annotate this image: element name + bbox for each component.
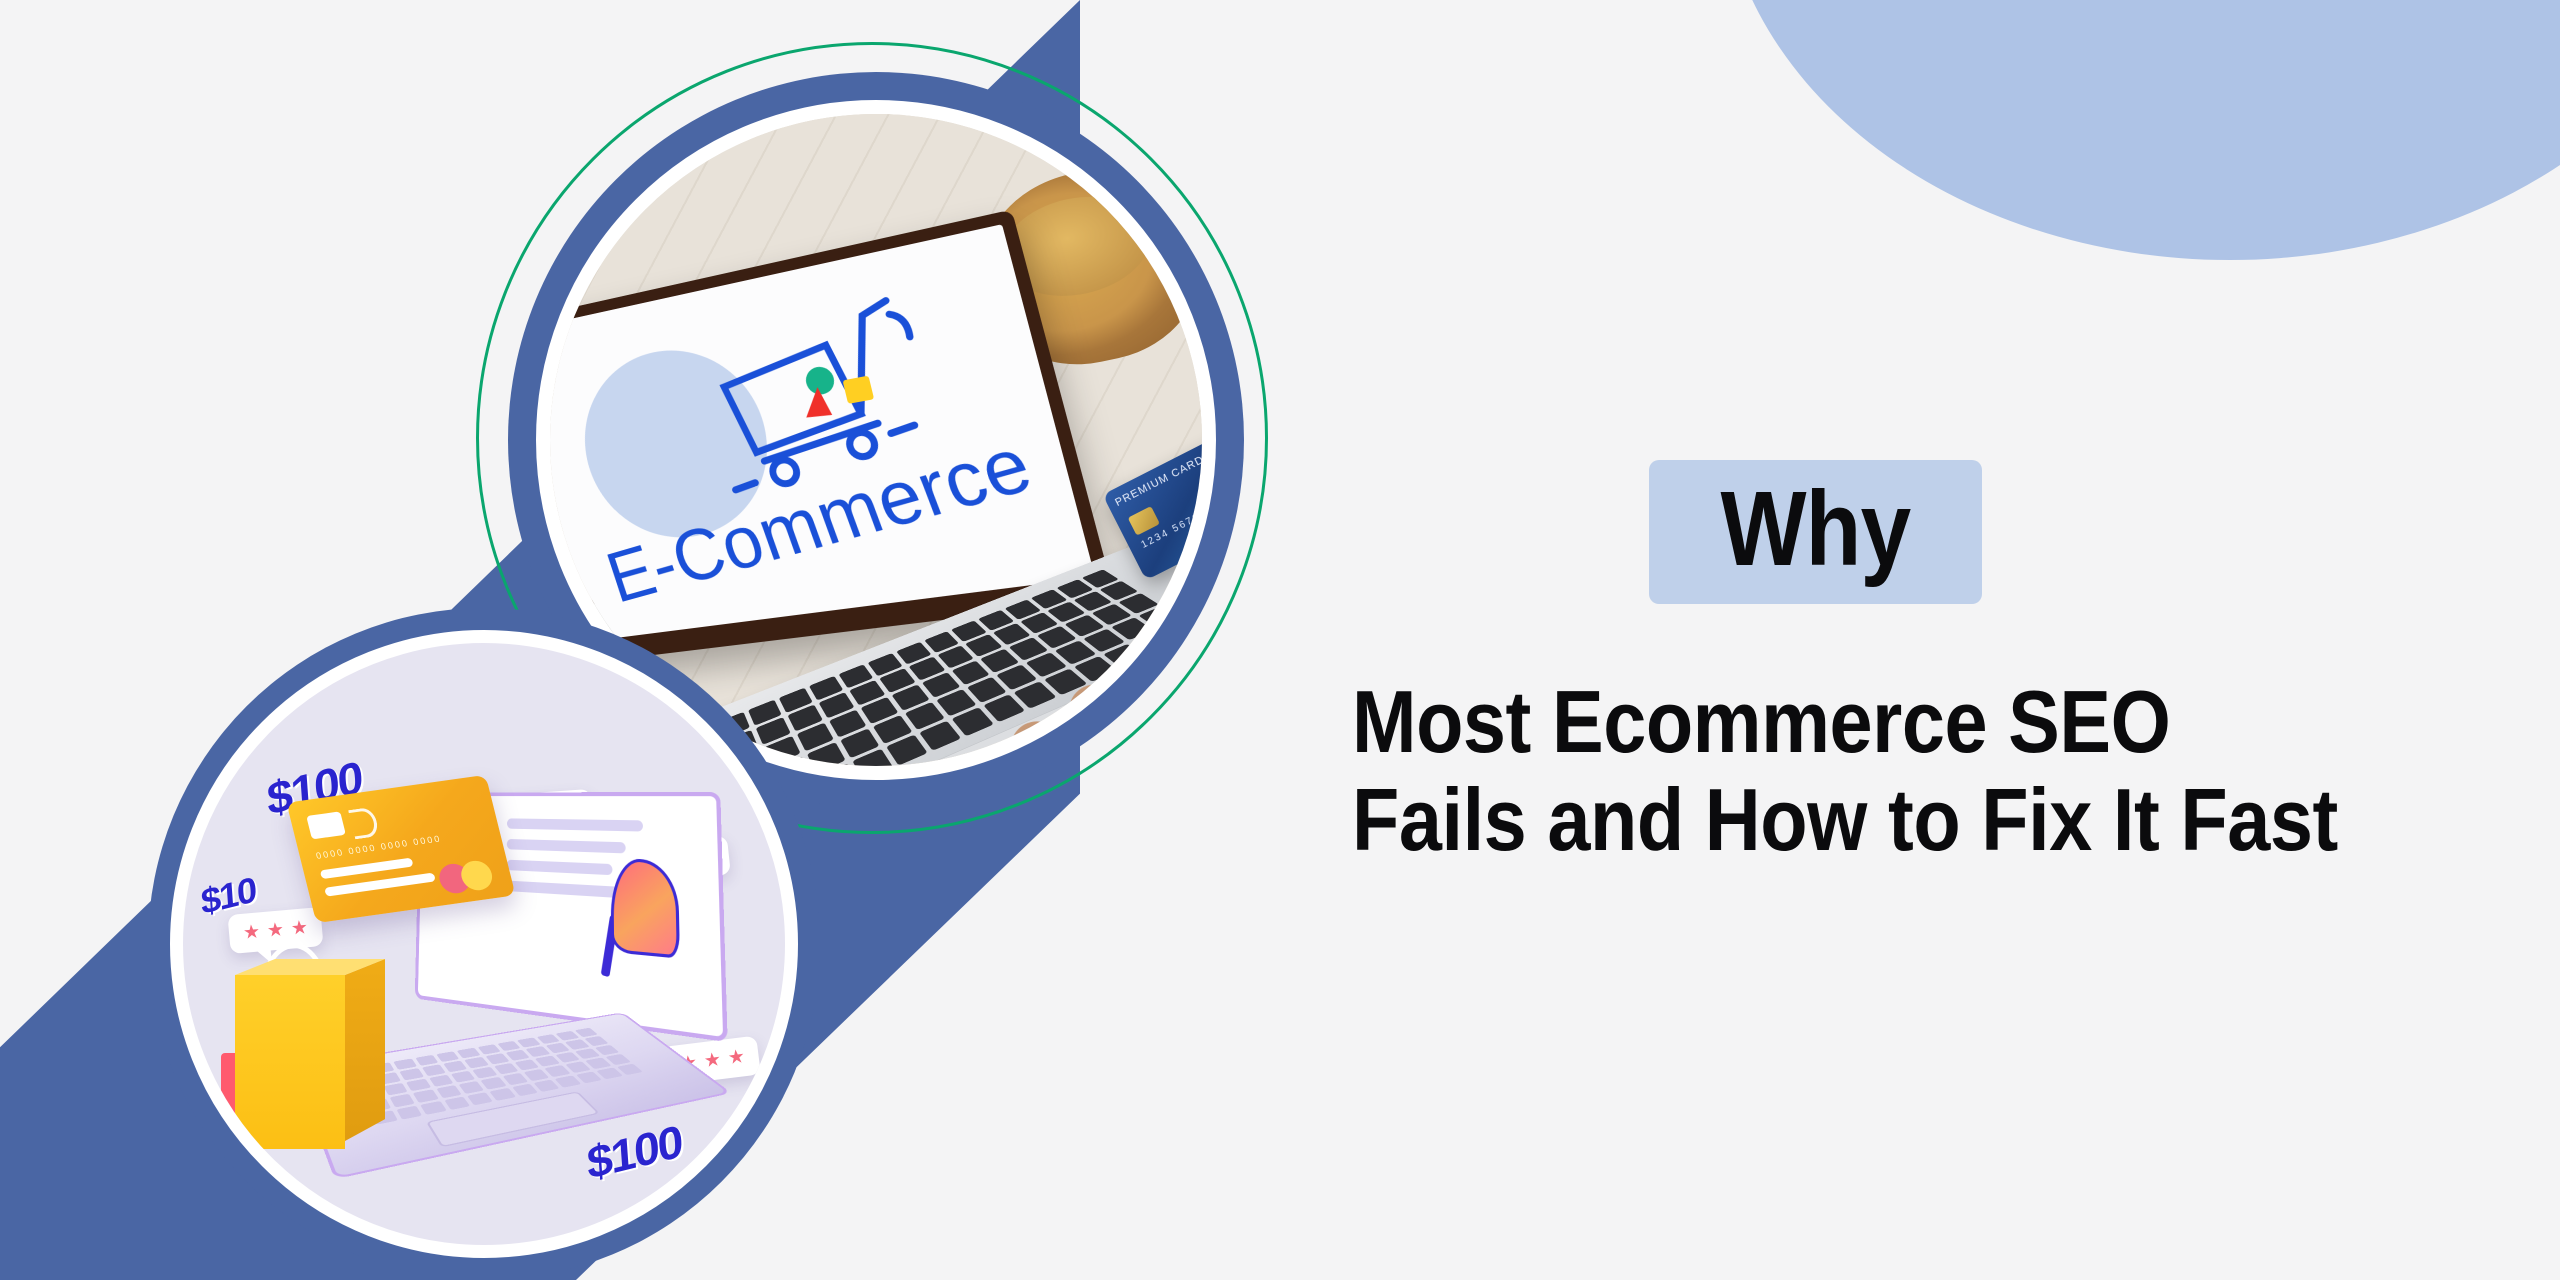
rating-bubble-1: ★ ★ ★ <box>227 907 323 954</box>
high-heel-shoe-icon <box>603 858 698 989</box>
headline-line-2: Fails and How to Fix It Fast <box>1352 774 2390 866</box>
contactless-icon <box>348 807 380 840</box>
credit-card-label: PREMIUM CARD <box>1113 454 1206 509</box>
illustration-circle-shopping: $100 $100 ★ ★ ★ ★ ★ ★ ★ ★ ★ ★ ★ ★ ★ <box>148 608 820 1280</box>
gold-card-number: 0000 0000 0000 0000 <box>315 833 442 860</box>
headline-line-1: Most Ecommerce SEO <box>1352 676 2390 768</box>
text-line <box>507 818 643 831</box>
top-right-blob-shape <box>1720 0 2560 260</box>
text-line <box>507 860 613 876</box>
illustration-circle-frame: $100 $100 ★ ★ ★ ★ ★ ★ ★ ★ ★ ★ ★ ★ ★ <box>170 630 798 1258</box>
promo-banner: E-Commerce <box>0 0 2560 1280</box>
card-detail-bar <box>320 858 414 880</box>
text-line <box>507 839 626 853</box>
text-column: Why Most Ecommerce SEO Fails and How to … <box>1352 460 2532 865</box>
star-icon: ★ <box>290 918 309 938</box>
headline: Most Ecommerce SEO Fails and How to Fix … <box>1352 676 2532 865</box>
star-icon: ★ <box>266 920 285 940</box>
credit-card-chip <box>1128 506 1160 536</box>
why-badge-label: Why <box>1720 476 1910 582</box>
shopping-bag-icon <box>235 949 385 1149</box>
money-label-2: $100 <box>585 1114 683 1190</box>
why-badge: Why <box>1649 460 1982 604</box>
star-icon: ★ <box>242 922 261 942</box>
card-chip-icon <box>306 811 346 839</box>
card-network-logo <box>436 859 495 895</box>
